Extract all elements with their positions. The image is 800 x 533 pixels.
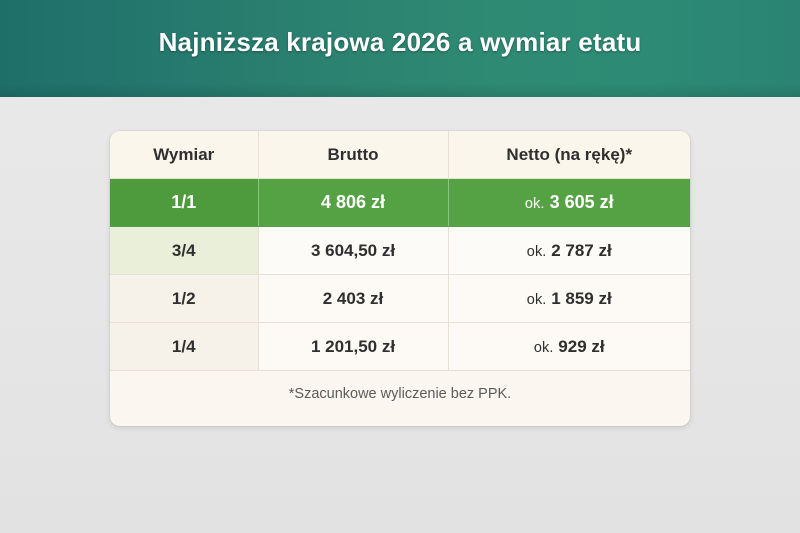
cell-netto-prefix: ok. (527, 244, 547, 260)
cell-netto-value: 3 605 zł (550, 192, 614, 212)
cell-brutto: 3 604,50 zł (258, 227, 448, 275)
cell-netto-value: 929 zł (558, 337, 604, 356)
column-header-brutto: Brutto (258, 131, 448, 179)
table-footnote: *Szacunkowe wyliczenie bez PPK. (110, 371, 690, 416)
cell-wymiar: 1/1 (110, 179, 258, 227)
cell-wymiar: 3/4 (110, 227, 258, 275)
salary-table: Wymiar Brutto Netto (na rękę)* 1/1 4 806… (110, 131, 690, 371)
cell-netto-value: 1 859 zł (551, 289, 612, 308)
cell-brutto: 2 403 zł (258, 275, 448, 323)
cell-netto: ok. 3 605 zł (448, 179, 690, 227)
cell-netto-prefix: ok. (525, 196, 545, 212)
cell-netto-prefix: ok. (527, 292, 547, 308)
table-row: 3/4 3 604,50 zł ok. 2 787 zł (110, 227, 690, 275)
salary-table-card: Wymiar Brutto Netto (na rękę)* 1/1 4 806… (110, 131, 690, 426)
cell-brutto: 4 806 zł (258, 179, 448, 227)
cell-wymiar: 1/2 (110, 275, 258, 323)
page-title: Najniższa krajowa 2026 a wymiar etatu (0, 0, 800, 85)
header-banner: Najniższa krajowa 2026 a wymiar etatu (0, 0, 800, 97)
table-header-row: Wymiar Brutto Netto (na rękę)* (110, 131, 690, 179)
table-row: 1/1 4 806 zł ok. 3 605 zł (110, 179, 690, 227)
table-row: 1/2 2 403 zł ok. 1 859 zł (110, 275, 690, 323)
cell-netto-value: 2 787 zł (551, 241, 612, 260)
cell-netto: ok. 2 787 zł (448, 227, 690, 275)
infographic-page: Najniższa krajowa 2026 a wymiar etatu Wy… (0, 0, 800, 533)
table-row: 1/4 1 201,50 zł ok. 929 zł (110, 323, 690, 371)
cell-netto-prefix: ok. (534, 340, 554, 356)
cell-brutto: 1 201,50 zł (258, 323, 448, 371)
column-header-wymiar: Wymiar (110, 131, 258, 179)
cell-netto: ok. 929 zł (448, 323, 690, 371)
column-header-netto: Netto (na rękę)* (448, 131, 690, 179)
cell-netto: ok. 1 859 zł (448, 275, 690, 323)
cell-wymiar: 1/4 (110, 323, 258, 371)
